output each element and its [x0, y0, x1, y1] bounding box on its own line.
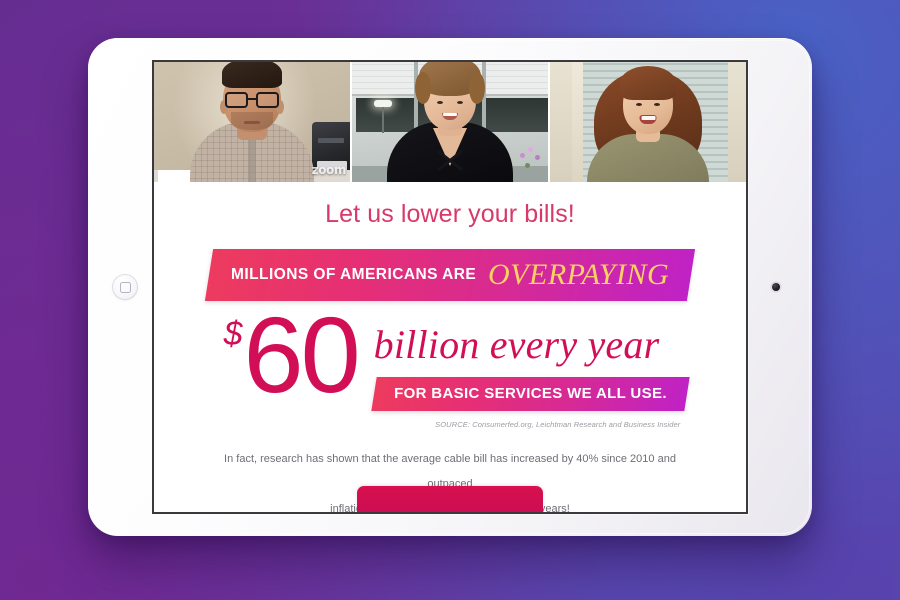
participant-3-hair-top	[620, 66, 676, 100]
participant-1-hair	[222, 62, 282, 88]
window-post	[572, 62, 583, 182]
participant-2-hair	[419, 62, 481, 96]
slide-headline: Let us lower your bills!	[154, 200, 746, 229]
statistic-right-column: billion every year FOR BASIC SERVICES WE…	[374, 315, 687, 429]
lamp-stem	[382, 107, 384, 133]
statistic-row: $ 60 billion every year FOR BASIC SERVIC…	[154, 315, 746, 429]
overpaying-banner-emphasis: OVERPAYING	[488, 258, 669, 292]
home-button-square-icon	[120, 282, 131, 293]
basic-services-banner: FOR BASIC SERVICES WE ALL USE.	[371, 377, 689, 411]
front-camera-icon	[772, 283, 780, 291]
currency-symbol: $	[224, 321, 243, 349]
participant-1-mouth	[244, 121, 260, 124]
tablet-device: zoom	[88, 38, 812, 536]
ceiling-lamp	[374, 100, 392, 107]
video-tile-participant-3[interactable]	[550, 62, 746, 182]
source-citation: SOURCE: Consumerfed.org, Leichtman Resea…	[374, 420, 687, 429]
participant-3-mouth	[640, 115, 657, 124]
tablet-screen: zoom	[154, 62, 746, 512]
statistic-amount: $ 60	[224, 311, 358, 400]
statistic-unit: billion every year	[374, 325, 687, 365]
video-tile-participant-1[interactable]: zoom	[154, 62, 352, 182]
participant-3-eye-right	[654, 103, 660, 106]
wall-panel-left	[550, 62, 572, 182]
video-tile-participant-2[interactable]	[352, 62, 550, 182]
presentation-slide: Let us lower your bills! MILLIONS OF AME…	[154, 182, 746, 512]
flower-plant	[518, 146, 544, 176]
zoom-watermark: zoom	[312, 163, 346, 177]
basic-services-banner-text: FOR BASIC SERVICES WE ALL USE.	[394, 385, 667, 402]
home-button[interactable]	[112, 274, 138, 300]
eyeglasses-icon	[225, 91, 279, 108]
video-call-strip: zoom	[154, 62, 746, 182]
dark-glass-pane	[486, 98, 548, 132]
overpaying-banner-lead: MILLIONS OF AMERICANS ARE	[231, 266, 476, 284]
wall-panel-right	[728, 62, 746, 182]
statistic-number: 60	[244, 311, 358, 400]
primary-cta-button[interactable]	[357, 486, 543, 512]
participant-2-eye-left	[437, 101, 443, 104]
participant-2-eye-right	[457, 101, 463, 104]
participant-3-eye-left	[636, 103, 642, 106]
cta-container	[154, 486, 746, 512]
overpaying-banner: MILLIONS OF AMERICANS AREOVERPAYING	[205, 249, 696, 301]
shirt-placket	[248, 134, 256, 182]
